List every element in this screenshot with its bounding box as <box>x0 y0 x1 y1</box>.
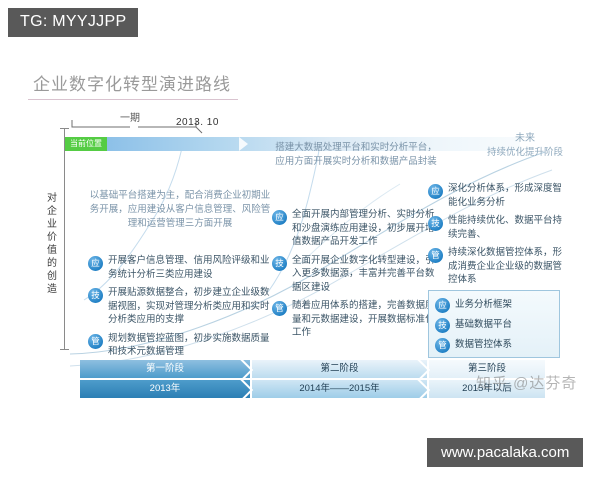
list-item-text: 持续深化数据管控体系，形成消费企业企业级的数据管控体系 <box>448 246 568 287</box>
list-item-text: 性能持续优化、数据平台持续完善、 <box>448 214 568 241</box>
list-item: 管 规划数据管控蓝图，初步实施数据质量和技术元数据管理 <box>88 332 273 359</box>
list-item-text: 开展贴源数据整合，初步建立企业级数据视图，实现对管理分析类应用和实时分析类应用的… <box>108 286 273 327</box>
list-item: 应 全面开展内部管理分析、实时分析和沙盘演练应用建设，初步展开增值数据产品开发工… <box>272 208 440 249</box>
chevron-right-icon <box>417 360 439 378</box>
list-item: 技 全面开展企业数字化转型建设，引入更多数据源，丰富并完善平台数据区建设 <box>272 254 440 295</box>
site-watermark: www.pacalaka.com <box>427 438 583 467</box>
legend-item-label: 基础数据平台 <box>455 318 512 332</box>
stage-1-name: 第一阶段 <box>80 360 250 378</box>
value-axis-label: 对企业价值的创造 <box>44 192 60 296</box>
governance-badge-icon: 管 <box>272 301 287 316</box>
page-title: 企业数字化转型演进路线 <box>33 70 231 95</box>
chevron-right-icon <box>417 380 439 398</box>
value-axis-top-cap <box>60 128 69 129</box>
date-marker-label: 2013. 10 <box>176 117 219 128</box>
application-badge-icon: 应 <box>272 210 287 225</box>
list-item: 管 持续深化数据管控体系，形成消费企业企业级的数据管控体系 <box>428 246 568 287</box>
stage-two-items: 应 全面开展内部管理分析、实时分析和沙盘演练应用建设，初步展开增值数据产品开发工… <box>272 208 440 345</box>
future-stage-label: 未来 持续优化提升阶段 <box>470 132 580 160</box>
zhihu-watermark: 知乎 @达芬奇 <box>476 372 577 393</box>
list-item-text: 规划数据管控蓝图，初步实施数据质量和技术元数据管理 <box>108 332 273 359</box>
chevron-right-icon <box>240 380 262 398</box>
stage-two-caption: 搭建大数据处理平台和实时分析平台，应用方面开展实时分析和数据产品封装 <box>272 141 440 169</box>
list-item-text: 全面开展企业数字化转型建设，引入更多数据源，丰富并完善平台数据区建设 <box>292 254 440 295</box>
technology-badge-icon: 技 <box>272 256 287 271</box>
technology-badge-icon: 技 <box>88 288 103 303</box>
future-line-2: 持续优化提升阶段 <box>470 146 580 160</box>
list-item: 技 开展贴源数据整合，初步建立企业级数据视图，实现对管理分析类应用和实时分析类应… <box>88 286 273 327</box>
value-axis-bottom-cap <box>60 349 69 350</box>
technology-badge-icon: 技 <box>435 318 450 333</box>
stage-one-items: 应 开展客户信息管理、信用风险评级和业务统计分析三类应用建设 技 开展贴源数据整… <box>88 254 273 364</box>
timeline-arrow-icon <box>239 137 248 151</box>
stage-2-name: 第二阶段 <box>252 360 427 378</box>
stage-three-items: 应 深化分析体系，形成深度智能化业务分析 技 性能持续优化、数据平台持续完善、 … <box>428 182 568 292</box>
stage-1-year: 2013年 <box>80 380 250 398</box>
list-item-text: 全面开展内部管理分析、实时分析和沙盘演练应用建设，初步展开增值数据产品开发工作 <box>292 208 440 249</box>
list-item-text: 随着应用体系的搭建，完善数据质量和元数据建设，开展数据标准化工作 <box>292 299 440 340</box>
current-position-badge: 当前位置 <box>65 137 107 151</box>
legend-item: 管 数据管控体系 <box>435 336 553 353</box>
chevron-right-icon <box>240 360 262 378</box>
list-item: 技 性能持续优化、数据平台持续完善、 <box>428 214 568 241</box>
tg-tag: TG: MYYJJPP <box>8 8 138 37</box>
legend-item: 技 基础数据平台 <box>435 316 553 333</box>
title-divider <box>28 99 238 100</box>
governance-badge-icon: 管 <box>435 338 450 353</box>
roadmap-chart: 对企业价值的创造 一期 2013. 10 当前位置 未来 持续优化提升阶段 以基… <box>0 104 600 404</box>
list-item-text: 开展客户信息管理、信用风险评级和业务统计分析三类应用建设 <box>108 254 273 281</box>
stage-2-year: 2014年——2015年 <box>252 380 427 398</box>
application-badge-icon: 应 <box>428 184 443 199</box>
stage-one-caption: 以基础平台搭建为主，配合消费企业初期业务开展，应用建设从客户信息管理、风险管理和… <box>86 189 274 231</box>
technology-badge-icon: 技 <box>428 216 443 231</box>
application-badge-icon: 应 <box>435 298 450 313</box>
legend-box: 应 业务分析框架 技 基础数据平台 管 数据管控体系 <box>428 290 560 358</box>
governance-badge-icon: 管 <box>88 334 103 349</box>
list-item-text: 深化分析体系，形成深度智能化业务分析 <box>448 182 568 209</box>
governance-badge-icon: 管 <box>428 248 443 263</box>
phase-one-label: 一期 <box>120 109 140 124</box>
application-badge-icon: 应 <box>88 256 103 271</box>
legend-item: 应 业务分析框架 <box>435 296 553 313</box>
legend-item-label: 业务分析框架 <box>455 298 512 312</box>
list-item: 管 随着应用体系的搭建，完善数据质量和元数据建设，开展数据标准化工作 <box>272 299 440 340</box>
legend-item-label: 数据管控体系 <box>455 338 512 352</box>
list-item: 应 深化分析体系，形成深度智能化业务分析 <box>428 182 568 209</box>
list-item: 应 开展客户信息管理、信用风险评级和业务统计分析三类应用建设 <box>88 254 273 281</box>
value-axis-line <box>64 128 65 350</box>
future-line-1: 未来 <box>470 132 580 146</box>
